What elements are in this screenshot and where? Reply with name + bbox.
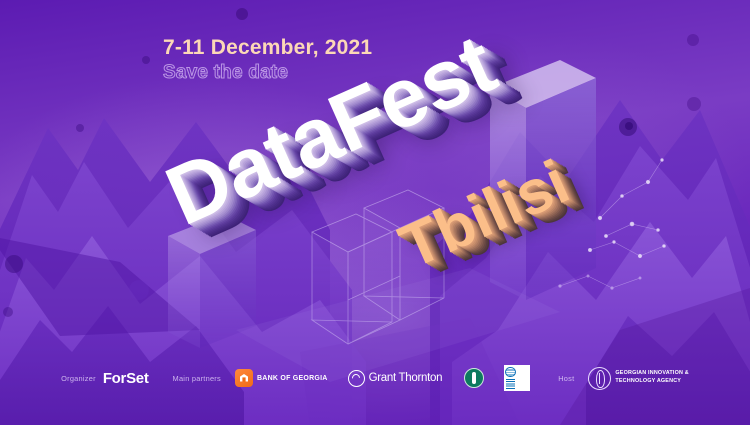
gita-label: GEORGIAN INNOVATION & TECHNOLOGY AGENCY xyxy=(615,370,688,386)
forset-logo[interactable]: ForSet xyxy=(103,370,149,387)
logo-grant-thornton[interactable]: Grant Thornton xyxy=(348,370,443,387)
organizer-label: Organizer xyxy=(61,374,96,383)
undp-globe-icon xyxy=(505,367,516,377)
footer-logo-strip: Organizer ForSet Main partners BANK OF G… xyxy=(0,365,750,391)
grant-thornton-icon xyxy=(348,370,365,387)
save-the-date-tagline: Save the date xyxy=(163,62,372,84)
bank-of-georgia-label: BANK OF GEORGIA xyxy=(257,375,328,382)
dot-dark-8 xyxy=(76,124,84,132)
main-partners-label: Main partners xyxy=(173,374,221,383)
host-label: Host xyxy=(558,374,574,383)
green-circle-logo-icon xyxy=(464,368,484,388)
gita-label-line1: GEORGIAN INNOVATION & xyxy=(615,370,688,376)
organizer-group: Organizer ForSet xyxy=(61,370,148,387)
dot-dark-4 xyxy=(687,97,701,111)
gita-icon xyxy=(588,367,611,390)
undp-emblem xyxy=(505,366,516,390)
undp-bars xyxy=(506,379,515,390)
logo-gita[interactable]: GEORGIAN INNOVATION & TECHNOLOGY AGENCY xyxy=(588,367,688,390)
dot-dark-11 xyxy=(129,280,149,300)
logo-bank-of-georgia[interactable]: BANK OF GEORGIA xyxy=(235,369,328,387)
date-block: 7-11 December, 2021 Save the date xyxy=(163,37,372,84)
bank-of-georgia-icon xyxy=(235,369,253,387)
grant-thornton-label: Grant Thornton xyxy=(369,372,443,384)
gita-label-line2: TECHNOLOGY AGENCY xyxy=(615,378,681,384)
dot-dark-3 xyxy=(687,34,699,46)
particles-constellation xyxy=(0,0,750,425)
dot-dark-9 xyxy=(5,255,23,273)
dot-dark-6 xyxy=(619,118,637,136)
event-date: 7-11 December, 2021 xyxy=(163,37,372,59)
dot-dark-2 xyxy=(430,68,442,80)
logo-undp[interactable] xyxy=(504,365,530,391)
undp-wordmark xyxy=(516,366,529,390)
dot-dark-1 xyxy=(236,8,248,20)
dot-dark-10 xyxy=(3,307,13,317)
undp-logo-icon xyxy=(504,365,530,391)
constellation-lower xyxy=(559,275,642,290)
constellation xyxy=(588,159,665,258)
datafest-poster: 7-11 December, 2021 Save the date DataFe… xyxy=(0,0,750,425)
dot-dark-7 xyxy=(142,56,150,64)
logo-green-partner[interactable] xyxy=(464,368,484,389)
